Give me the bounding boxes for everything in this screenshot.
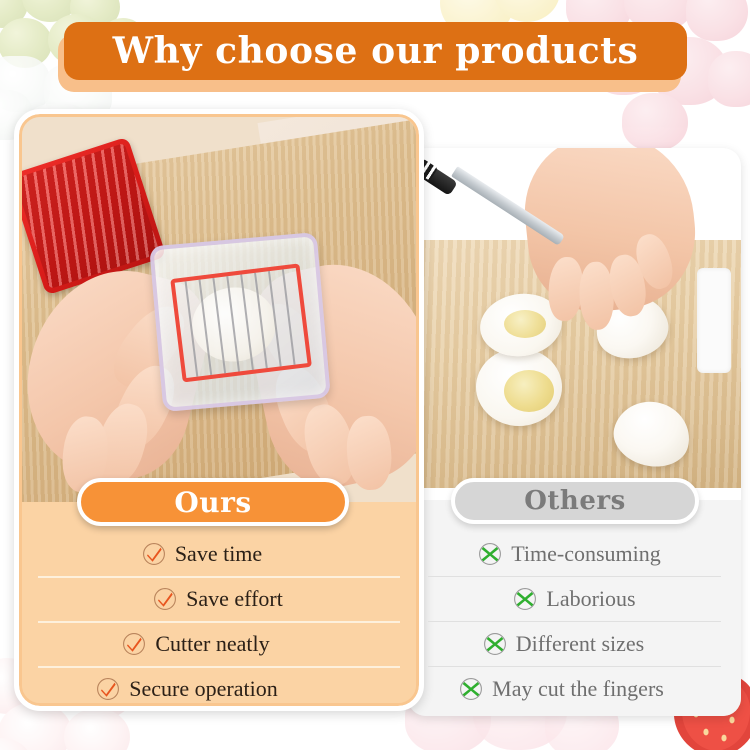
list-item-label: Secure operation xyxy=(129,676,277,702)
list-item-label: Save effort xyxy=(186,586,283,612)
list-item-label: Different sizes xyxy=(516,631,645,657)
check-circle-icon xyxy=(142,542,166,566)
list-item-label: Save time xyxy=(175,541,262,567)
list-item: Save effort xyxy=(20,576,418,621)
x-circle-icon xyxy=(513,587,537,611)
list-item: Laborious xyxy=(412,576,737,621)
list-item-label: Cutter neatly xyxy=(155,631,269,657)
list-item: Cutter neatly xyxy=(20,621,418,666)
check-circle-icon xyxy=(122,632,146,656)
list-item: May cut the fingers xyxy=(412,666,737,711)
list-item: Different sizes xyxy=(412,621,737,666)
comparison-cards: Ours Others Save time Save effort Cutt xyxy=(0,0,750,750)
list-item-label: May cut the fingers xyxy=(492,676,664,702)
x-circle-icon xyxy=(478,542,502,566)
others-header-pill: Others xyxy=(451,478,699,524)
egg-yolk-icon xyxy=(504,370,554,412)
list-item: Time-consuming xyxy=(412,531,737,576)
others-feature-list: Time-consuming Laborious Different sizes… xyxy=(412,531,737,711)
list-item: Save time xyxy=(20,531,418,576)
ours-header-pill: Ours xyxy=(77,478,349,526)
slicer-red-frame-icon xyxy=(170,263,312,382)
ours-header-label: Ours xyxy=(174,486,251,519)
list-item: Secure operation xyxy=(20,666,418,711)
x-circle-icon xyxy=(483,632,507,656)
others-header-label: Others xyxy=(524,486,625,516)
ours-photo xyxy=(22,117,416,502)
x-circle-icon xyxy=(459,677,483,701)
board-handle-icon xyxy=(697,268,731,373)
list-item-label: Laborious xyxy=(546,586,635,612)
check-circle-icon xyxy=(153,587,177,611)
egg-yolk-icon xyxy=(504,310,546,338)
check-circle-icon xyxy=(96,677,120,701)
ours-feature-list: Save time Save effort Cutter neatly Secu… xyxy=(20,531,418,711)
list-item-label: Time-consuming xyxy=(511,541,661,567)
others-photo xyxy=(408,148,741,500)
egg-slicer-icon xyxy=(149,232,331,412)
